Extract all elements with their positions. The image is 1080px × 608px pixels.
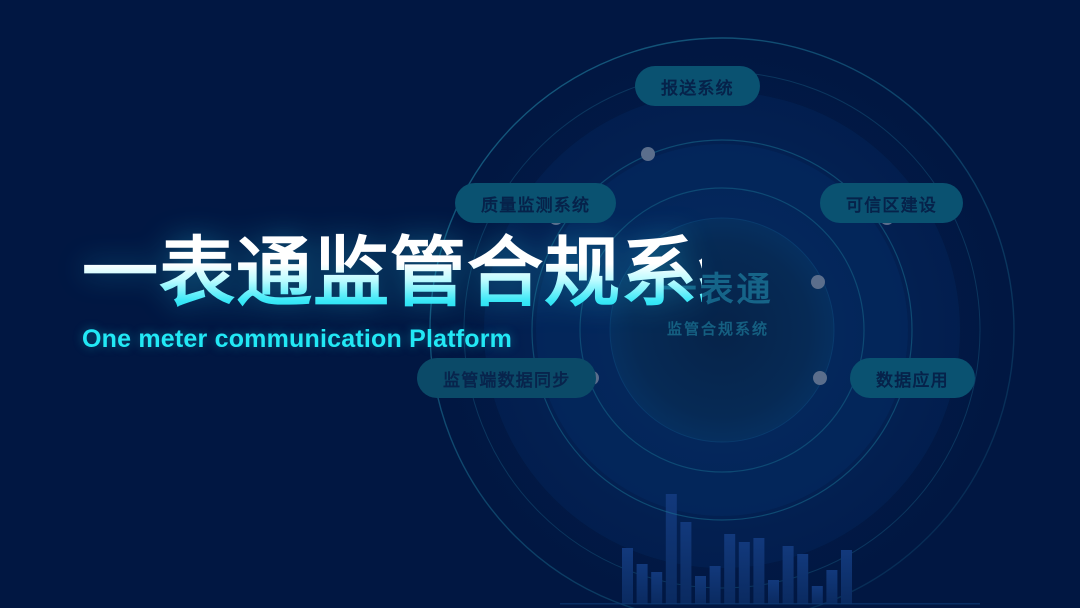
connector-dot-upper-right xyxy=(811,275,825,289)
page-subtitle: One meter communication Platform xyxy=(82,324,702,354)
node-pill-zhiliang[interactable]: 质量监测系统 xyxy=(455,183,616,223)
node-pill-tongbu[interactable]: 监管端数据同步 xyxy=(417,358,596,398)
node-pill-shuju[interactable]: 数据应用 xyxy=(850,358,975,398)
connector-dot-baosong xyxy=(641,147,655,161)
headline-group: 一表通监管合规系统 One meter communication Platfo… xyxy=(82,232,702,354)
node-pill-kexin[interactable]: 可信区建设 xyxy=(820,183,963,223)
page-title: 一表通监管合规系统 xyxy=(82,232,702,316)
slide-canvas: 一表通 监管合规系统 一表通监管合规系统 One meter communica… xyxy=(0,0,1080,608)
connector-dot-shuju-a xyxy=(813,371,827,385)
node-pill-baosong[interactable]: 报送系统 xyxy=(635,66,760,106)
